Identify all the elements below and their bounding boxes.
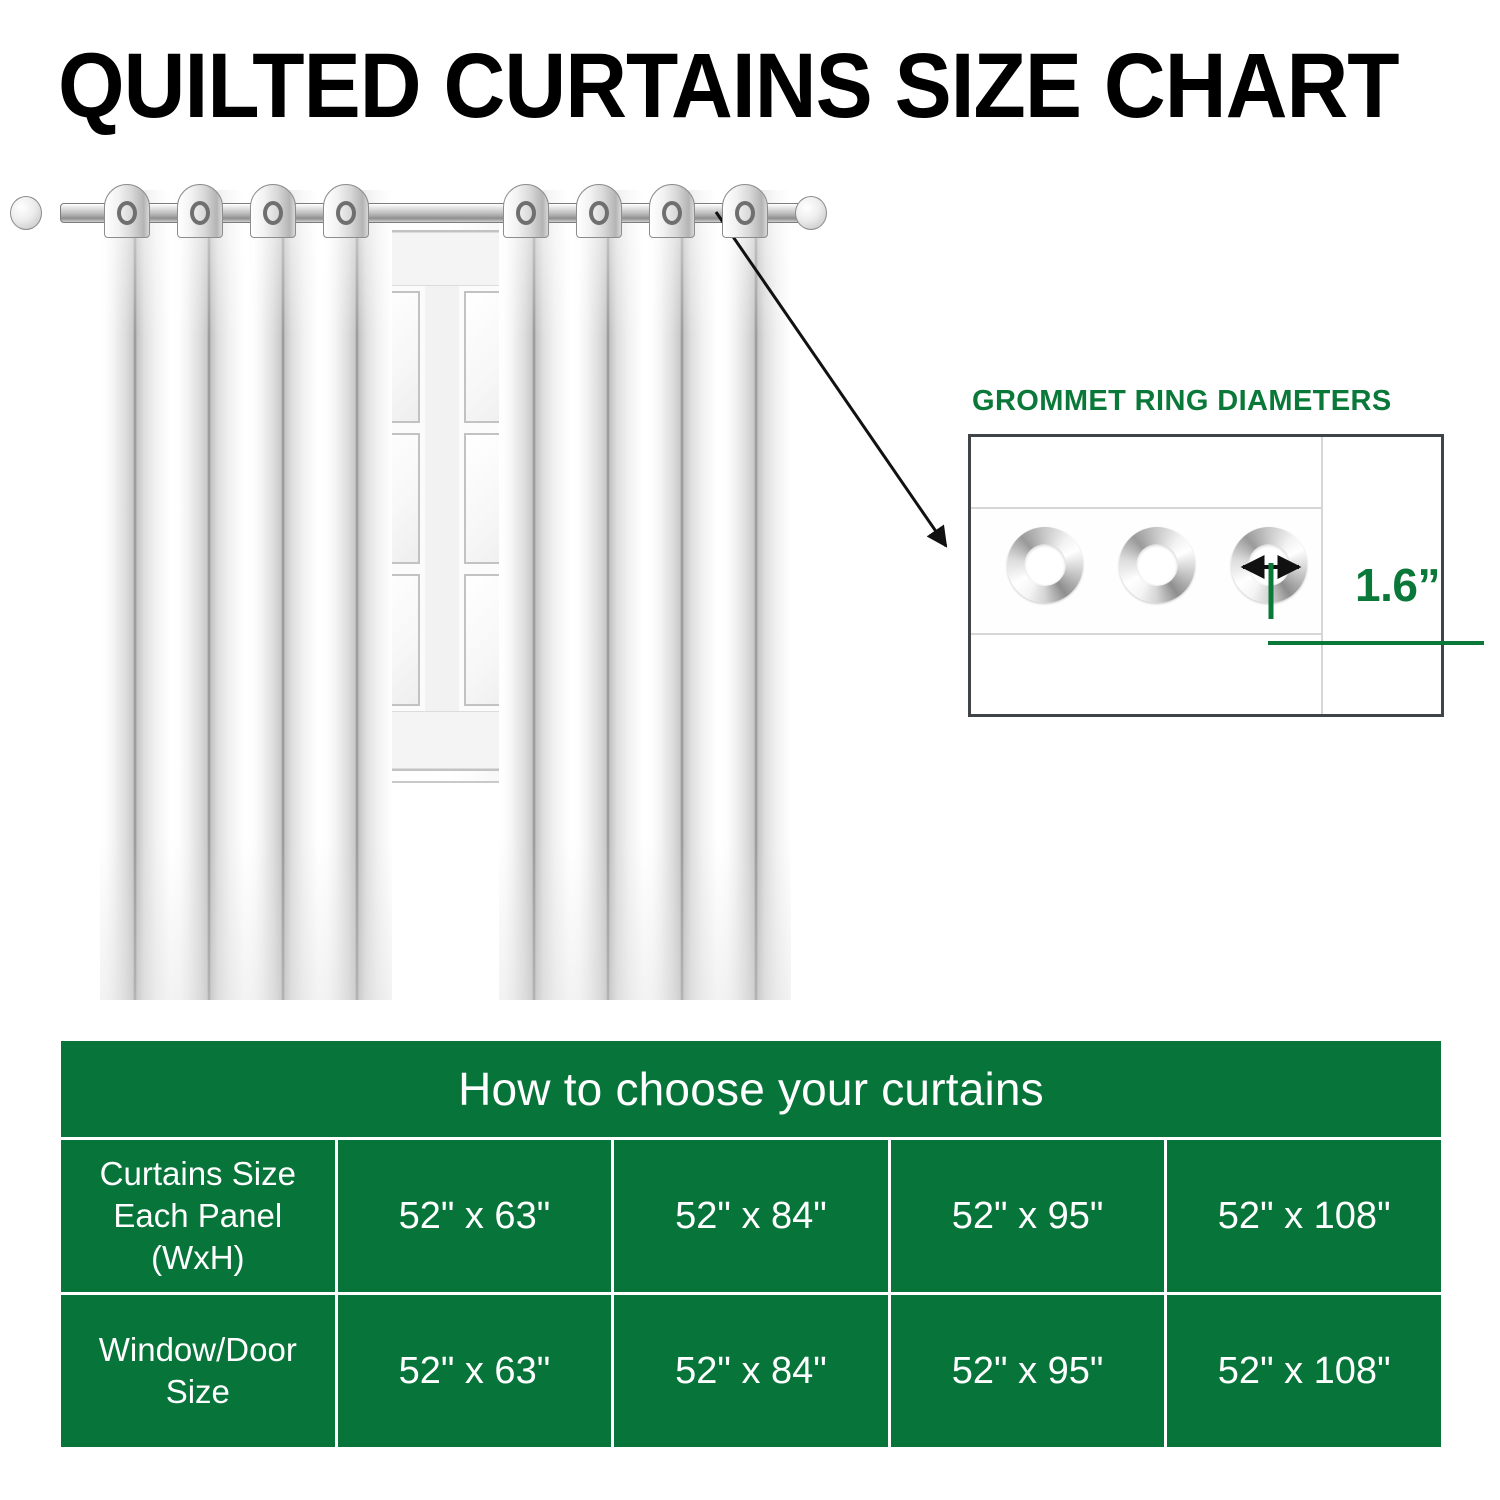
table-cell: 52" x 63" [338, 1295, 612, 1447]
panel-grommet-ring-icon [516, 201, 536, 225]
panel-grommet-ring-icon [190, 201, 210, 225]
rod-finial-right-icon [795, 196, 827, 230]
curtain-sheen [100, 190, 392, 1000]
table-cell: 52" x 95" [891, 1295, 1165, 1447]
grommet-detail-section: GROMMET RING DIAMETERS [968, 385, 1446, 717]
dimension-leader-line [1267, 563, 1367, 623]
row-label-line: Each Panel [65, 1195, 331, 1237]
window-mullion [425, 428, 459, 570]
curtain-sheen [499, 190, 791, 1000]
row-label-line: (WxH) [65, 1237, 331, 1279]
panel-grommet-ring-icon [263, 201, 283, 225]
panel-grommet-ring-icon [735, 201, 755, 225]
table-cell: 52" x 84" [614, 1140, 888, 1292]
table-cell: 52" x 84" [614, 1295, 888, 1447]
grommet-ring-icon [1007, 527, 1083, 603]
grommet-ring-icon [1119, 527, 1195, 603]
table-cell: 52" x 95" [891, 1140, 1165, 1292]
table-row: Window/Door Size 52" x 63" 52" x 84" 52"… [61, 1295, 1441, 1447]
table-cell: 52" x 108" [1167, 1295, 1441, 1447]
table-cell: 52" x 63" [338, 1140, 612, 1292]
row-label-line: Window/Door [65, 1329, 331, 1371]
rod-finial-left-icon [10, 196, 42, 230]
table-cell: 52" x 108" [1167, 1140, 1441, 1292]
table-header-row: How to choose your curtains [61, 1041, 1441, 1137]
table-title-cell: How to choose your curtains [61, 1041, 1441, 1137]
grommet-heading: GROMMET RING DIAMETERS [972, 385, 1446, 418]
grommet-diameter-label: 1.6” [1355, 558, 1440, 612]
table-row: Curtains Size Each Panel (WxH) 52" x 63"… [61, 1140, 1441, 1292]
window-mullion [425, 569, 459, 711]
curtain-panel-left [100, 190, 392, 1000]
panel-grommet-ring-icon [589, 201, 609, 225]
panel-grommet-ring-icon [117, 201, 137, 225]
dimension-leader-horizontal [1268, 641, 1484, 645]
row-label-line: Curtains Size [65, 1153, 331, 1195]
row-label-curtains-size: Curtains Size Each Panel (WxH) [61, 1140, 335, 1292]
row-label-line: Size [65, 1371, 331, 1413]
panel-grommet-ring-icon [662, 201, 682, 225]
size-chart-table: How to choose your curtains Curtains Siz… [58, 1038, 1444, 1450]
curtain-panel-right [499, 190, 791, 1000]
window-mullion [425, 286, 459, 428]
panel-grommet-ring-icon [336, 201, 356, 225]
curtain-illustration [0, 170, 860, 1000]
row-label-window-door-size: Window/Door Size [61, 1295, 335, 1447]
page-title: QUILTED CURTAINS SIZE CHART [58, 38, 1360, 134]
